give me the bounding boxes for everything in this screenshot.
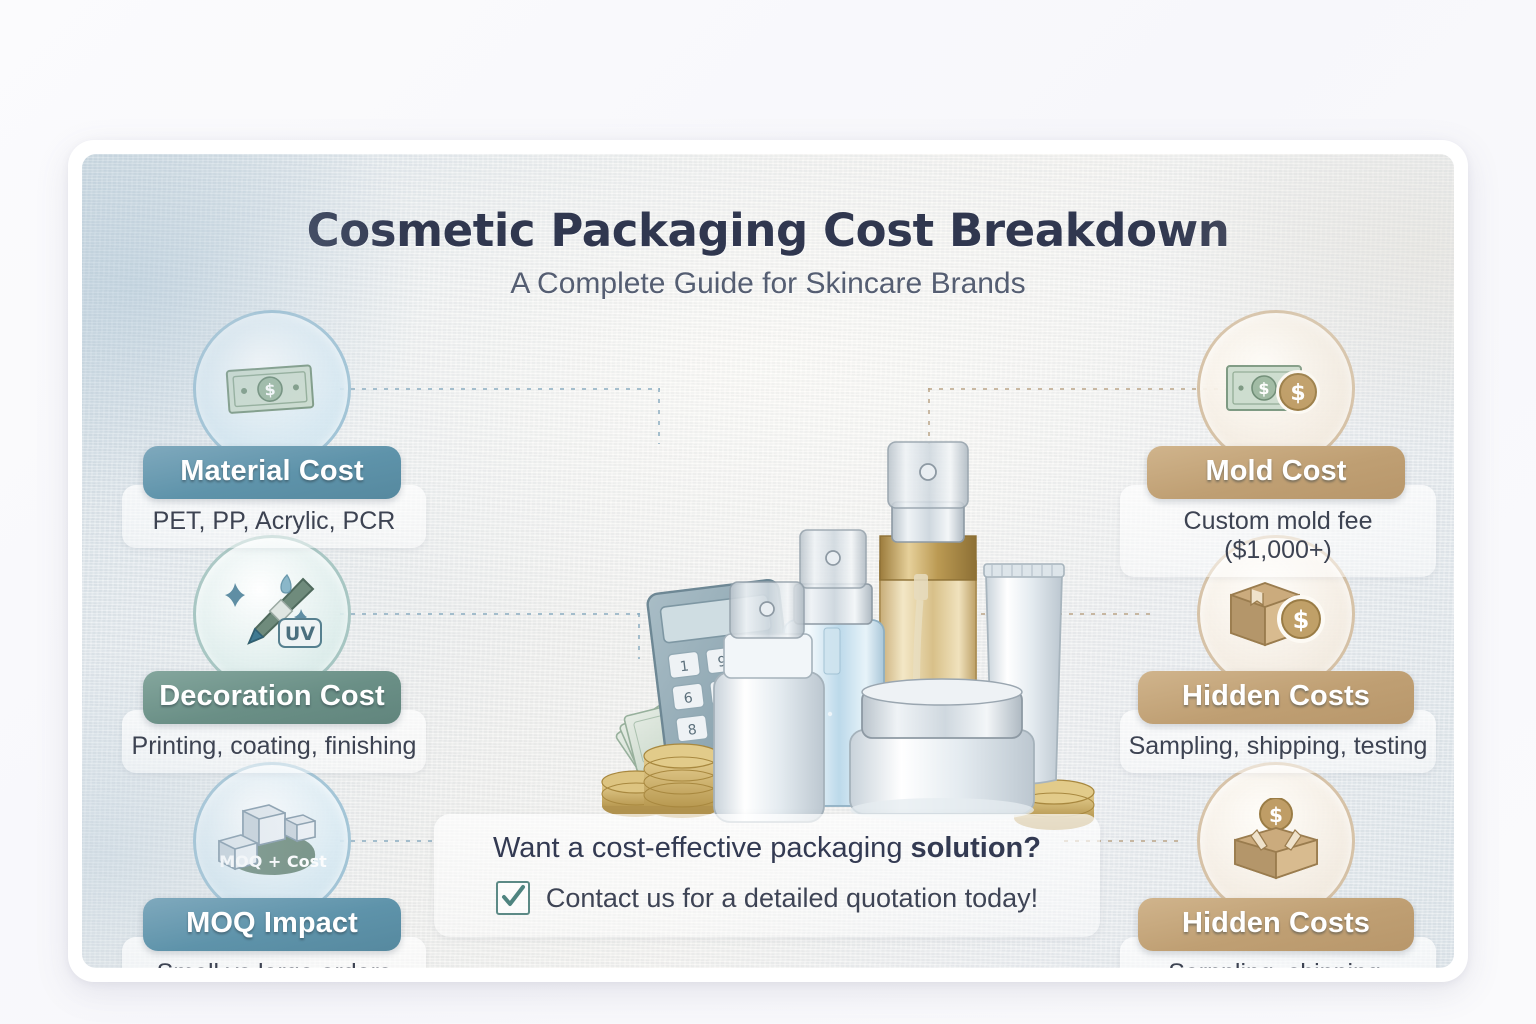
- stacked-boxes-icon: MOQ + Cost: [193, 762, 351, 920]
- card-moq-impact[interactable]: MOQ + Cost MOQ Impact Small vs large ord…: [122, 762, 422, 968]
- paintbrush-uv-icon: UV: [193, 535, 351, 693]
- card-label-moq-impact: MOQ Impact: [143, 898, 401, 951]
- banknote-icon: $: [193, 310, 351, 468]
- card-hidden-costs-sampling[interactable]: $ Hidden Costs Sarnpling, shipping, test…: [1120, 762, 1432, 968]
- open-box-coin-icon: $: [1197, 762, 1355, 920]
- card-decoration-cost[interactable]: UV Decoration Cost Printing, coating, fi…: [122, 535, 422, 773]
- card-material-cost[interactable]: $ Material Cost PET, PP, Acrylic, PCR: [122, 310, 422, 548]
- card-mold-cost[interactable]: $ $ Mold Cost Custom mold fee ($1,000+): [1120, 310, 1432, 577]
- card-label-hidden-costs-sampling: Hidden Costs: [1138, 898, 1414, 951]
- cta-headline: Want a cost-effective packaging solution…: [456, 832, 1078, 865]
- cta-action-row[interactable]: Contact us for a detailed quotation toda…: [456, 881, 1078, 915]
- cosmetic-packaging-illustration: 19 66 8: [562, 424, 1142, 844]
- svg-text:UV: UV: [285, 623, 315, 645]
- cta-headline-lead: Want a cost-effective packaging: [493, 832, 911, 864]
- cta-action-text: Contact us for a detailed quotation toda…: [546, 883, 1038, 914]
- poster-canvas: Cosmetic Packaging Cost Breakdown A Comp…: [82, 154, 1454, 968]
- svg-text:MOQ + Cost: MOQ + Cost: [219, 852, 327, 871]
- card-label-hidden-costs-shipping: Hidden Costs: [1138, 671, 1414, 724]
- cta-panel[interactable]: Want a cost-effective packaging solution…: [434, 814, 1100, 937]
- checkmark-icon[interactable]: [496, 881, 530, 915]
- svg-text:$: $: [1258, 379, 1269, 398]
- card-label-material-cost: Material Cost: [143, 446, 401, 499]
- svg-text:$: $: [1269, 803, 1283, 827]
- banknote-coin-icon: $ $: [1197, 310, 1355, 468]
- page-subtitle: A Complete Guide for Skincare Brands: [82, 267, 1454, 301]
- svg-text:$: $: [1293, 606, 1310, 634]
- svg-text:$: $: [264, 380, 276, 400]
- cta-headline-bold: solution?: [911, 832, 1041, 864]
- card-label-mold-cost: Mold Cost: [1147, 446, 1405, 499]
- page-title: Cosmetic Packaging Cost Breakdown: [82, 204, 1454, 257]
- infographic-stage: Cosmetic Packaging Cost Breakdown A Comp…: [0, 0, 1536, 1024]
- card-label-decoration-cost: Decoration Cost: [143, 671, 401, 724]
- svg-text:$: $: [1290, 381, 1305, 406]
